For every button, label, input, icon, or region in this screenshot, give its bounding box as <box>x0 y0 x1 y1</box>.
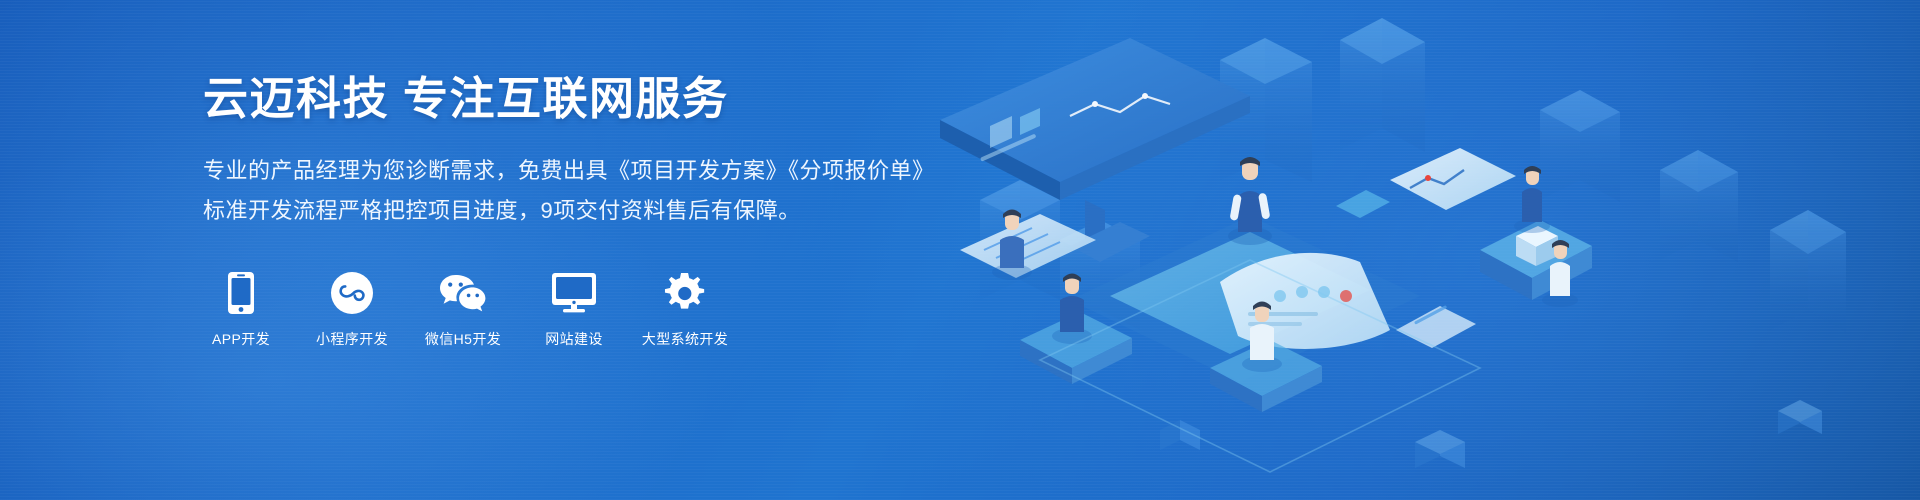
service-label-app: APP开发 <box>212 329 270 349</box>
banner-content: 云迈科技 专注互联网服务 专业的产品经理为您诊断需求，免费出具《项目开发方案》《… <box>203 72 963 349</box>
service-item-website[interactable]: 网站建设 <box>536 270 612 349</box>
service-label-mini-program: 小程序开发 <box>316 329 388 349</box>
gear-icon <box>663 270 707 316</box>
mobile-phone-icon <box>228 270 254 316</box>
hero-banner: 云迈科技 专注互联网服务 专业的产品经理为您诊断需求，免费出具《项目开发方案》《… <box>0 0 1920 500</box>
page-title: 云迈科技 专注互联网服务 <box>203 72 963 126</box>
subtitle-line-2: 标准开发流程严格把控项目进度，9项交付资料售后有保障。 <box>203 192 963 230</box>
service-list: APP开发 小程序开发 <box>203 270 963 349</box>
monitor-icon <box>552 270 596 316</box>
service-item-large-system[interactable]: 大型系统开发 <box>647 270 723 349</box>
service-label-wechat-h5: 微信H5开发 <box>425 329 501 349</box>
service-item-app[interactable]: APP开发 <box>203 270 279 349</box>
service-item-wechat-h5[interactable]: 微信H5开发 <box>425 270 501 349</box>
mini-program-icon <box>331 270 373 316</box>
service-label-large-system: 大型系统开发 <box>642 329 728 349</box>
subtitle-line-1: 专业的产品经理为您诊断需求，免费出具《项目开发方案》《分项报价单》 <box>203 152 963 190</box>
banner-subtitle: 专业的产品经理为您诊断需求，免费出具《项目开发方案》《分项报价单》 标准开发流程… <box>203 152 963 230</box>
service-item-mini-program[interactable]: 小程序开发 <box>314 270 390 349</box>
wechat-icon <box>439 270 487 316</box>
service-label-website: 网站建设 <box>545 329 603 349</box>
illustration-isometric-analytics <box>920 0 1920 500</box>
